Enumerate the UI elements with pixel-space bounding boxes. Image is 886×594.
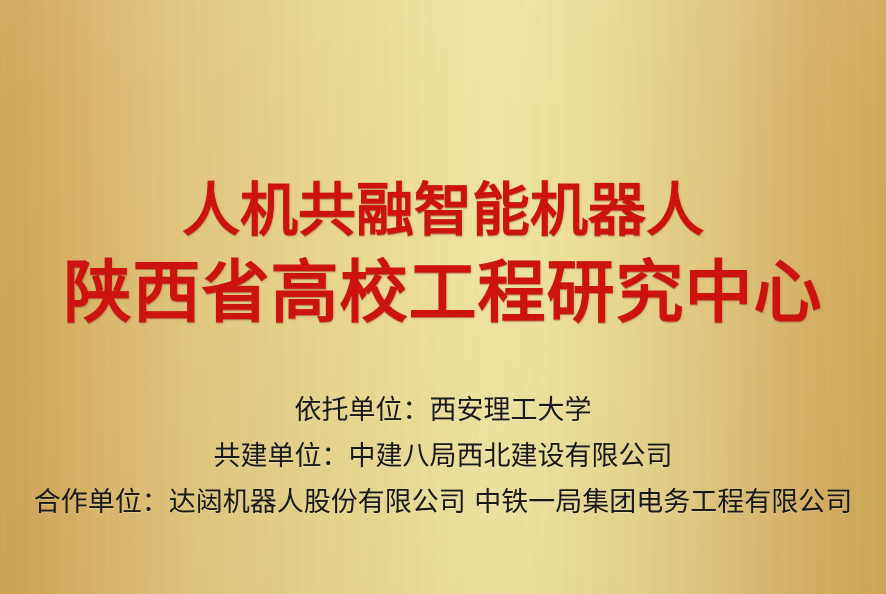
- award-plaque: 人机共融智能机器人 陕西省高校工程研究中心 依托单位：西安理工大学 共建单位：中…: [0, 0, 886, 594]
- plaque-title-line-1: 人机共融智能机器人: [0, 176, 886, 244]
- cooperating-institutions-line: 合作单位：达闼机器人股份有限公司 中铁一局集团电务工程有限公司: [0, 486, 886, 520]
- co-building-institution-line: 共建单位：中建八局西北建设有限公司: [0, 440, 886, 474]
- supporting-institution-line: 依托单位：西安理工大学: [0, 394, 886, 428]
- plaque-content: 人机共融智能机器人 陕西省高校工程研究中心 依托单位：西安理工大学 共建单位：中…: [0, 0, 886, 594]
- plaque-title-line-2: 陕西省高校工程研究中心: [0, 253, 886, 333]
